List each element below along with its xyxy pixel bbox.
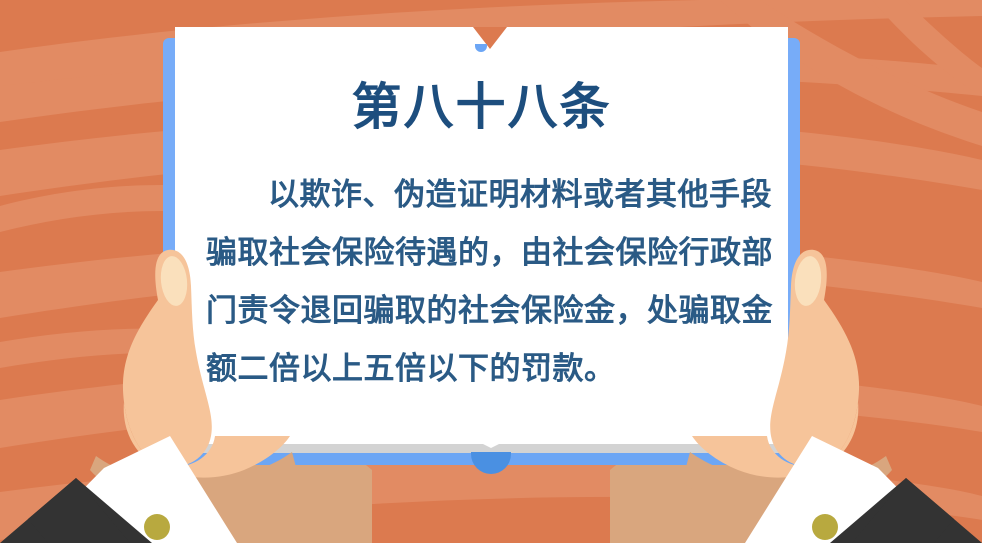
- book-text-content: 第八十八条 以欺诈、伪造证明材料或者其他手段 骗取社会保险待遇的，由社会保险行政…: [175, 27, 788, 445]
- article-line-4: 额二倍以上五倍以下的罚款。: [206, 340, 754, 398]
- poster-canvas: 第八十八条 以欺诈、伪造证明材料或者其他手段 骗取社会保险待遇的，由社会保险行政…: [0, 0, 982, 543]
- article-body: 以欺诈、伪造证明材料或者其他手段 骗取社会保险待遇的，由社会保险行政部 门责令退…: [206, 166, 754, 398]
- right-cuff-button: [812, 514, 838, 540]
- left-cuff-button: [144, 514, 170, 540]
- article-line-1: 以欺诈、伪造证明材料或者其他手段: [206, 166, 754, 224]
- page-title: 第八十八条: [175, 67, 788, 139]
- article-line-2: 骗取社会保险待遇的，由社会保险行政部: [206, 224, 754, 282]
- article-line-3: 门责令退回骗取的社会保险金，处骗取金: [206, 282, 754, 340]
